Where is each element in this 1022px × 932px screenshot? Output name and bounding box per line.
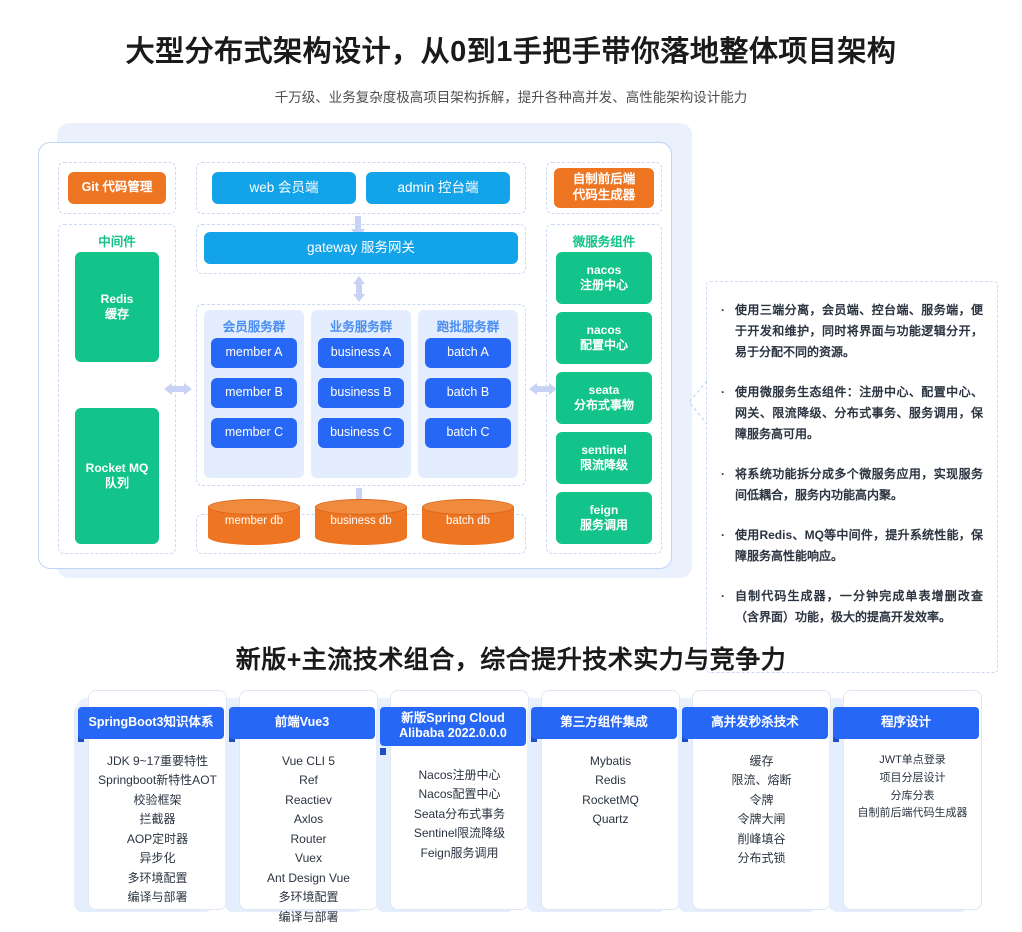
card-item: 削峰填谷 [695,830,828,849]
chip-sentinel[interactable]: sentinel 限流降级 [556,432,652,484]
card-item: Nacos注册中心 [393,766,526,785]
bullet-icon: · [721,464,735,506]
db-batch-label: batch db [422,499,514,543]
card-item: Springboot新特性AOT [91,771,224,790]
bullet-icon: · [721,586,735,628]
label-middleware: 中间件 [58,231,176,250]
card-item: Ref [242,771,375,790]
card-item: 分库分表 [846,788,979,806]
card-title: SpringBoot3知识体系 [78,707,224,739]
card-item: 拦截器 [91,810,224,829]
card-title: 程序设计 [833,707,979,739]
chip-business-a[interactable]: business A [318,338,404,368]
db-batch[interactable]: batch db [422,499,514,543]
card-items: JDK 9~17重要特性 Springboot新特性AOT 校验框架 拦截器 A… [88,752,227,908]
chip-batch-a[interactable]: batch A [425,338,511,368]
arrow-gateway-services [351,276,367,302]
stack-card-vue3[interactable]: 前端Vue3 Vue CLI 5 Ref Reactiev Axlos Rout… [235,690,374,914]
bullet-icon: · [721,300,735,363]
note-text: 使用Redis、MQ等中间件，提升系统性能，保障服务高性能响应。 [735,525,983,567]
ribbon-fold-icon [380,748,386,755]
card-title: 高并发秒杀技术 [682,707,828,739]
card-title: 新版Spring Cloud Alibaba 2022.0.0.0 [380,707,526,746]
label-batch-group: 跑批服务群 [418,316,518,335]
architecture-diagram: Git 代码管理 web 会员端 admin 控台端 自制前后端 代码生成器 中… [0,118,1022,598]
note-item: · 使用微服务生态组件：注册中心、配置中心、网关、限流降级、分布式事务、服务调用… [721,382,983,445]
label-member-group: 会员服务群 [204,316,304,335]
card-title: 前端Vue3 [229,707,375,739]
card-items: 缓存 限流、熔断 令牌 令牌大闸 削峰填谷 分布式锁 [692,752,831,869]
chip-nacos-registry[interactable]: nacos 注册中心 [556,252,652,304]
card-item: 编译与部署 [91,888,224,907]
card-item: 异步化 [91,849,224,868]
chip-gateway[interactable]: gateway 服务网关 [204,232,518,264]
card-item: 缓存 [695,752,828,771]
chip-git[interactable]: Git 代码管理 [68,172,166,204]
chip-member-b[interactable]: member B [211,378,297,408]
page-subtitle: 千万级、业务复杂度极高项目架构拆解，提升各种高并发、高性能架构设计能力 [0,86,1022,106]
notes-pointer-icon [686,380,708,426]
chip-redis[interactable]: Redis 缓存 [75,252,159,362]
db-member-label: member db [208,499,300,543]
card-item: JDK 9~17重要特性 [91,752,224,771]
chip-batch-b[interactable]: batch B [425,378,511,408]
card-item: 令牌大闸 [695,810,828,829]
card-item: 多环境配置 [242,888,375,907]
card-item: 编译与部署 [242,908,375,927]
db-business-label: business db [315,499,407,543]
label-business-group: 业务服务群 [311,316,411,335]
card-item: Reactiev [242,791,375,810]
stack-card-program-design[interactable]: 程序设计 JWT单点登录 项目分层设计 分库分表 自制前后端代码生成器 [839,690,978,914]
card-item: 限流、熔断 [695,771,828,790]
chip-rocketmq[interactable]: Rocket MQ 队列 [75,408,159,544]
card-item: 令牌 [695,791,828,810]
note-item: · 自制代码生成器，一分钟完成单表增删改查（含界面）功能，极大的提高开发效率。 [721,586,983,628]
card-item: Seata分布式事务 [393,805,526,824]
card-item: Router [242,830,375,849]
card-item: Axlos [242,810,375,829]
card-item: AOP定时器 [91,830,224,849]
stack-section-title: 新版+主流技术组合，综合提升技术实力与竞争力 [0,640,1022,676]
arrow-middleware-services [164,381,192,397]
card-item: 分布式锁 [695,849,828,868]
card-title: 第三方组件集成 [531,707,677,739]
chip-seata[interactable]: seata 分布式事物 [556,372,652,424]
note-item: · 使用三端分离，会员端、控台端、服务端，便于开发和维护，同时将界面与功能逻辑分… [721,300,983,363]
card-item: Redis [544,771,677,790]
note-text: 自制代码生成器，一分钟完成单表增删改查（含界面）功能，极大的提高开发效率。 [735,586,983,628]
db-member[interactable]: member db [208,499,300,543]
card-item: JWT单点登录 [846,752,979,770]
card-item: 项目分层设计 [846,770,979,788]
chip-admin-console[interactable]: admin 控台端 [366,172,510,204]
chip-nacos-config[interactable]: nacos 配置中心 [556,312,652,364]
db-business[interactable]: business db [315,499,407,543]
card-item: Quartz [544,810,677,829]
note-text: 将系统功能拆分成多个微服务应用，实现服务间低耦合，服务内功能高内聚。 [735,464,983,506]
card-items: JWT单点登录 项目分层设计 分库分表 自制前后端代码生成器 [843,752,982,823]
stack-card-third-party[interactable]: 第三方组件集成 Mybatis Redis RocketMQ Quartz [537,690,676,914]
card-items: Mybatis Redis RocketMQ Quartz [541,752,680,830]
bullet-icon: · [721,382,735,445]
chip-business-b[interactable]: business B [318,378,404,408]
stack-card-springboot3[interactable]: SpringBoot3知识体系 JDK 9~17重要特性 Springboot新… [84,690,223,914]
card-item: Sentinel限流降级 [393,824,526,843]
card-item: Feign服务调用 [393,844,526,863]
card-item: Vue CLI 5 [242,752,375,771]
stack-card-high-concurrency[interactable]: 高并发秒杀技术 缓存 限流、熔断 令牌 令牌大闸 削峰填谷 分布式锁 [688,690,827,914]
card-item: Nacos配置中心 [393,785,526,804]
card-item: Vuex [242,849,375,868]
card-item: 多环境配置 [91,869,224,888]
chip-feign[interactable]: feign 服务调用 [556,492,652,544]
note-item: · 将系统功能拆分成多个微服务应用，实现服务间低耦合，服务内功能高内聚。 [721,464,983,506]
note-text: 使用三端分离，会员端、控台端、服务端，便于开发和维护，同时将界面与功能逻辑分开，… [735,300,983,363]
card-item: Ant Design Vue [242,869,375,888]
tech-stack-section: SpringBoot3知识体系 JDK 9~17重要特性 Springboot新… [0,690,1022,920]
chip-member-a[interactable]: member A [211,338,297,368]
card-item: Mybatis [544,752,677,771]
chip-batch-c[interactable]: batch C [425,418,511,448]
page-title: 大型分布式架构设计，从0到1手把手带你落地整体项目架构 [0,0,1022,70]
bullet-icon: · [721,525,735,567]
notes-panel: · 使用三端分离，会员端、控台端、服务端，便于开发和维护，同时将界面与功能逻辑分… [706,281,998,673]
label-microservice-components: 微服务组件 [546,231,662,250]
chip-business-c[interactable]: business C [318,418,404,448]
chip-web-client[interactable]: web 会员端 [212,172,356,204]
card-item: RocketMQ [544,791,677,810]
note-text: 使用微服务生态组件：注册中心、配置中心、网关、限流降级、分布式事务、服务调用，保… [735,382,983,445]
card-items: Vue CLI 5 Ref Reactiev Axlos Router Vuex… [239,752,378,927]
stack-card-spring-cloud-alibaba[interactable]: 新版Spring Cloud Alibaba 2022.0.0.0 Nacos注… [386,690,525,914]
chip-code-generator[interactable]: 自制前后端 代码生成器 [554,168,654,208]
card-items: Nacos注册中心 Nacos配置中心 Seata分布式事务 Sentinel限… [390,766,529,863]
note-item: · 使用Redis、MQ等中间件，提升系统性能，保障服务高性能响应。 [721,525,983,567]
card-item: 校验框架 [91,791,224,810]
card-item: 自制前后端代码生成器 [846,805,979,823]
chip-member-c[interactable]: member C [211,418,297,448]
